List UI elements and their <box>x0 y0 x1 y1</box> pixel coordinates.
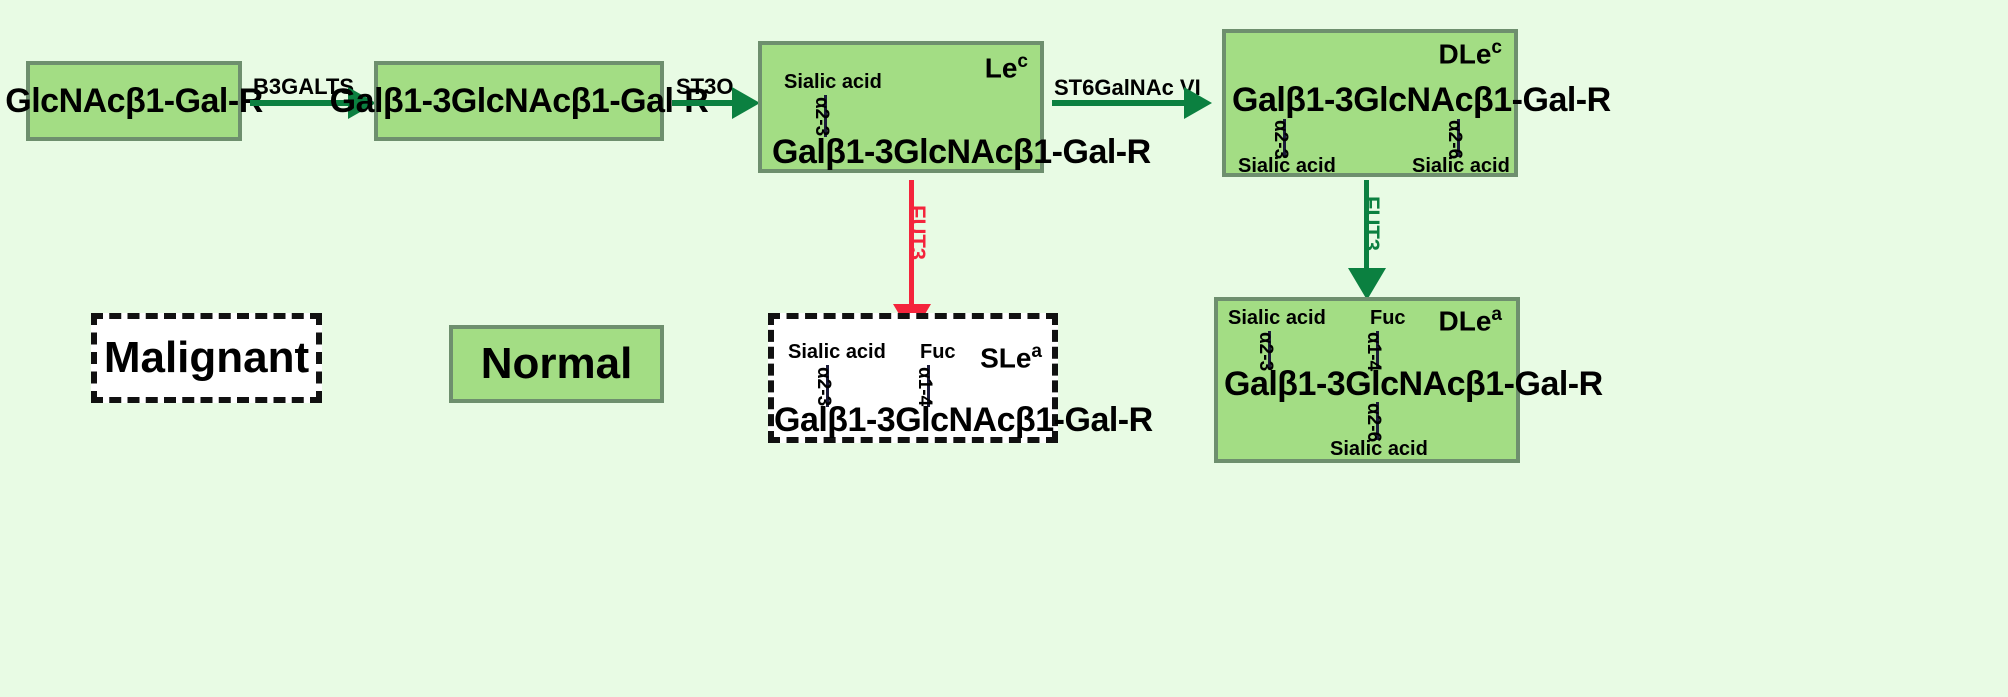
legend-normal-label: Normal <box>481 339 633 389</box>
node-slea[interactable]: SLea Sialic acid α2-3 Fuc α1-4 Galβ1-3Gl… <box>768 313 1058 443</box>
legend-normal-box[interactable]: Normal <box>449 325 664 403</box>
enzyme-label-st3o: ST3O <box>676 74 733 100</box>
node-dlea-bottom-residue: Sialic acid <box>1330 438 1428 461</box>
enzyme-label-st6galnac6: ST6GalNAc VI <box>1054 75 1201 101</box>
node-dlec-right-residue: Sialic acid <box>1412 155 1510 178</box>
node-slea-structure: SLea Sialic acid α2-3 Fuc α1-4 Galβ1-3Gl… <box>774 319 1052 437</box>
node-lec-structure: Lec Sialic acid α2-3 Galβ1-3GlcNAcβ1-Gal… <box>762 45 1040 169</box>
node-dlea[interactable]: DLea Sialic acid α2-3 Fuc α1-4 Galβ1-3Gl… <box>1214 297 1520 463</box>
node-lec-top-residue: Sialic acid <box>784 71 882 94</box>
node-type1-chain-backbone: Galβ1-3GlcNAcβ1-Gal-R <box>330 82 709 121</box>
node-dlec[interactable]: DLec Galβ1-3GlcNAcβ1-Gal-R α2-3 Sialic a… <box>1222 29 1518 177</box>
node-dlea-right-residue: Fuc <box>1370 307 1406 330</box>
node-precursor-backbone: GlcNAcβ1-Gal-R <box>5 82 262 121</box>
node-dlea-backbone: Galβ1-3GlcNAcβ1-Gal-R <box>1224 365 1603 404</box>
node-dlea-bottom-linkage: α2-6 <box>1362 403 1384 442</box>
node-dlea-structure: DLea Sialic acid α2-3 Fuc α1-4 Galβ1-3Gl… <box>1218 301 1516 459</box>
node-lec-tag: Lec <box>985 51 1028 84</box>
pathway-diagram-canvas: GlcNAcβ1-Gal-R B3GALTS Galβ1-3GlcNAcβ1-G… <box>0 0 2008 697</box>
enzyme-label-fut3-red: FUT3 <box>904 205 930 260</box>
node-slea-right-residue: Fuc <box>920 341 956 364</box>
node-dlec-left-residue: Sialic acid <box>1238 155 1336 178</box>
node-dlec-tag: DLec <box>1439 37 1502 70</box>
node-dlec-structure: DLec Galβ1-3GlcNAcβ1-Gal-R α2-3 Sialic a… <box>1226 33 1514 173</box>
node-slea-backbone: Galβ1-3GlcNAcβ1-Gal-R <box>774 401 1153 440</box>
node-dlea-left-residue: Sialic acid <box>1228 307 1326 330</box>
enzyme-label-fut3-green: FUT3 <box>1358 196 1384 251</box>
legend-malignant-box[interactable]: Malignant <box>91 313 322 403</box>
node-lec-backbone: Galβ1-3GlcNAcβ1-Gal-R <box>772 133 1151 172</box>
arrow-lec-to-dlec <box>1052 100 1186 106</box>
node-slea-tag: SLea <box>980 341 1042 374</box>
node-slea-left-residue: Sialic acid <box>788 341 886 364</box>
node-dlec-left-linkage: α2-3 <box>1269 120 1291 159</box>
node-dlec-backbone: Galβ1-3GlcNAcβ1-Gal-R <box>1232 81 1611 120</box>
node-lec-top-linkage: α2-3 <box>810 97 832 136</box>
node-precursor[interactable]: GlcNAcβ1-Gal-R <box>26 61 242 141</box>
arrow-type1-to-lec <box>672 100 734 106</box>
node-lec[interactable]: Lec Sialic acid α2-3 Galβ1-3GlcNAcβ1-Gal… <box>758 41 1044 173</box>
node-dlea-tag: DLea <box>1439 304 1502 337</box>
node-dlec-right-linkage: α2-6 <box>1443 120 1465 159</box>
legend-malignant-label: Malignant <box>104 333 309 383</box>
node-type1-chain[interactable]: Galβ1-3GlcNAcβ1-Gal-R <box>374 61 664 141</box>
